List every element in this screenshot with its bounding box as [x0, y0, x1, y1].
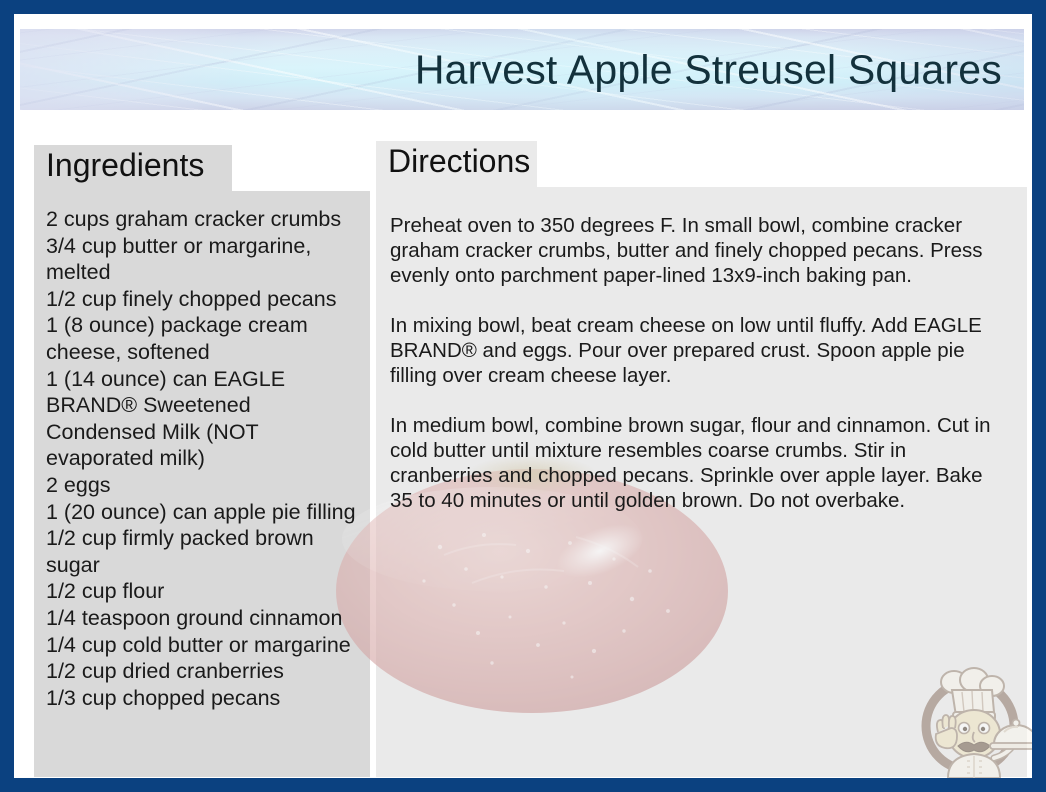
directions-heading-strip: Directions	[376, 141, 1027, 187]
ingredient-item: 2 eggs	[46, 472, 360, 499]
page-title: Harvest Apple Streusel Squares	[415, 46, 1002, 93]
ingredient-item: 1 (20 ounce) can apple pie filling	[46, 499, 360, 526]
ingredient-item: 1/2 cup dried cranberries	[46, 658, 360, 685]
ingredients-heading-strip: Ingredients	[34, 145, 370, 191]
ingredients-heading-notch	[232, 145, 370, 191]
direction-paragraph: In medium bowl, combine brown sugar, flo…	[390, 413, 1009, 513]
ingredient-item: 1/3 cup chopped pecans	[46, 685, 360, 712]
title-banner: Harvest Apple Streusel Squares	[20, 29, 1024, 110]
ingredient-item: 1/4 teaspoon ground cinnamon	[46, 605, 360, 632]
recipe-card: Harvest Apple Streusel Squares Ingredien…	[0, 0, 1046, 792]
direction-paragraph: In mixing bowl, beat cream cheese on low…	[390, 313, 1009, 388]
ingredient-item: 1/4 cup cold butter or margarine	[46, 632, 360, 659]
directions-text: Preheat oven to 350 degrees F. In small …	[376, 187, 1027, 513]
ingredient-item: 3/4 cup butter or margarine, melted	[46, 233, 360, 286]
directions-panel: Directions Preheat oven to 350 degrees F…	[376, 141, 1027, 777]
ingredients-list: 2 cups graham cracker crumbs3/4 cup butt…	[34, 191, 370, 711]
ingredient-item: 1 (14 ounce) can EAGLE BRAND® Sweetened …	[46, 366, 360, 472]
ingredient-item: 1 (8 ounce) package cream cheese, soften…	[46, 312, 360, 365]
ingredient-item: 1/2 cup finely chopped pecans	[46, 286, 360, 313]
ingredients-heading: Ingredients	[46, 147, 204, 184]
directions-heading-notch	[537, 141, 1027, 187]
direction-paragraph: Preheat oven to 350 degrees F. In small …	[390, 213, 1009, 288]
directions-heading: Directions	[388, 143, 530, 180]
ingredients-panel: Ingredients 2 cups graham cracker crumbs…	[34, 145, 370, 777]
ingredient-item: 1/2 cup flour	[46, 578, 360, 605]
ingredient-item: 2 cups graham cracker crumbs	[46, 206, 360, 233]
ingredient-item: 1/2 cup firmly packed brown sugar	[46, 525, 360, 578]
